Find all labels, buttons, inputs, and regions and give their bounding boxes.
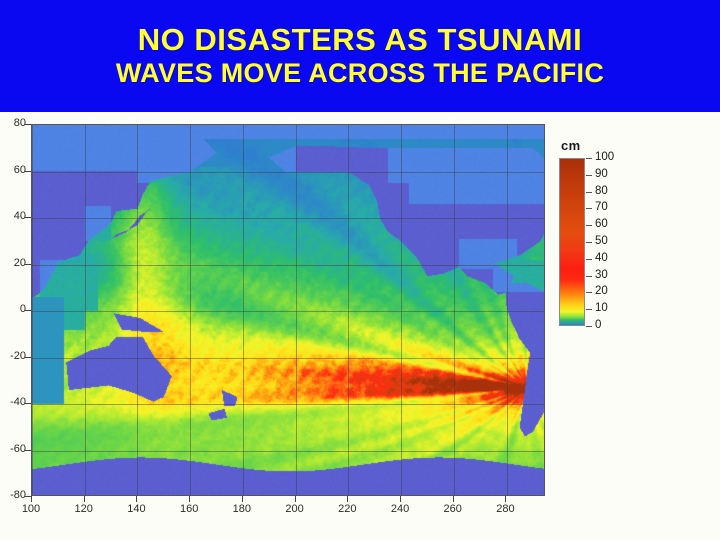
x-axis-tick-mark xyxy=(400,496,401,502)
x-axis-tick-mark xyxy=(189,496,190,502)
x-axis-tick-label: 280 xyxy=(485,503,525,515)
figure-region: 806040200-20-40-60-801001201401601802002… xyxy=(0,112,720,540)
title-line-1: NO DISASTERS AS TSUNAMI xyxy=(138,24,582,57)
x-axis-tick-label: 180 xyxy=(222,503,262,515)
y-axis-tick-mark xyxy=(25,264,31,265)
colorbar-tick-label: 0 xyxy=(595,320,601,332)
x-axis-tick-label: 100 xyxy=(11,503,51,515)
title-banner: NO DISASTERS AS TSUNAMI WAVES MOVE ACROS… xyxy=(0,0,720,112)
x-axis-tick-label: 140 xyxy=(116,503,156,515)
colorbar-tick-mark xyxy=(586,276,592,277)
x-axis-tick-mark xyxy=(505,496,506,502)
tsunami-amplitude-map xyxy=(31,124,545,496)
y-axis-tick-label: 60 xyxy=(0,164,26,176)
colorbar-tick-mark xyxy=(586,175,592,176)
colorbar-tick-mark xyxy=(586,259,592,260)
y-axis-tick-mark xyxy=(25,357,31,358)
y-axis-tick-label: 20 xyxy=(0,257,26,269)
x-axis-tick-mark xyxy=(242,496,243,502)
y-axis-tick-label: 0 xyxy=(0,303,26,315)
y-axis-tick-mark xyxy=(25,450,31,451)
colorbar-unit-label: cm xyxy=(561,138,581,153)
colorbar-tick-mark xyxy=(586,158,592,159)
colorbar-tick-label: 90 xyxy=(595,169,608,181)
x-axis-tick-mark xyxy=(347,496,348,502)
y-axis-tick-label: -40 xyxy=(0,396,26,408)
colorbar-tick-mark xyxy=(586,309,592,310)
colorbar-tick-mark xyxy=(586,326,592,327)
colorbar: cm 1009080706050403020100 xyxy=(555,112,685,540)
colorbar-tick-mark xyxy=(586,192,592,193)
colorbar-tick-mark xyxy=(586,225,592,226)
x-axis-tick-mark xyxy=(295,496,296,502)
colorbar-tick-label: 50 xyxy=(595,236,608,248)
colorbar-gradient xyxy=(559,158,585,326)
x-axis-tick-label: 240 xyxy=(380,503,420,515)
colorbar-tick-label: 60 xyxy=(595,219,608,231)
y-axis-tick-label: -20 xyxy=(0,350,26,362)
y-axis-tick-label: -80 xyxy=(0,489,26,501)
y-axis-tick-mark xyxy=(25,310,31,311)
colorbar-tick-mark xyxy=(586,292,592,293)
y-axis-tick-mark xyxy=(25,171,31,172)
colorbar-tick-mark xyxy=(586,242,592,243)
colorbar-tick-label: 10 xyxy=(595,303,608,315)
y-axis-tick-label: -60 xyxy=(0,443,26,455)
x-axis-tick-label: 220 xyxy=(327,503,367,515)
y-axis-tick-mark xyxy=(25,217,31,218)
y-axis-tick-mark xyxy=(25,124,31,125)
y-axis-tick-label: 40 xyxy=(0,210,26,222)
map-raster xyxy=(32,125,545,496)
x-axis-tick-mark xyxy=(453,496,454,502)
x-axis-tick-mark xyxy=(136,496,137,502)
x-axis-tick-label: 160 xyxy=(169,503,209,515)
colorbar-tick-label: 30 xyxy=(595,270,608,282)
y-axis-tick-label: 80 xyxy=(0,117,26,129)
x-axis-tick-mark xyxy=(31,496,32,502)
colorbar-tick-label: 40 xyxy=(595,253,608,265)
x-axis-tick-label: 260 xyxy=(433,503,473,515)
x-axis-tick-label: 200 xyxy=(275,503,315,515)
y-axis-tick-mark xyxy=(25,403,31,404)
colorbar-tick-label: 80 xyxy=(595,186,608,198)
colorbar-tick-label: 70 xyxy=(595,202,608,214)
colorbar-tick-label: 100 xyxy=(595,152,614,164)
colorbar-tick-mark xyxy=(586,208,592,209)
colorbar-tick-label: 20 xyxy=(595,286,608,298)
x-axis-tick-mark xyxy=(84,496,85,502)
slide-root: NO DISASTERS AS TSUNAMI WAVES MOVE ACROS… xyxy=(0,0,720,540)
title-line-2: WAVES MOVE ACROSS THE PACIFIC xyxy=(116,58,604,88)
x-axis-tick-label: 120 xyxy=(64,503,104,515)
